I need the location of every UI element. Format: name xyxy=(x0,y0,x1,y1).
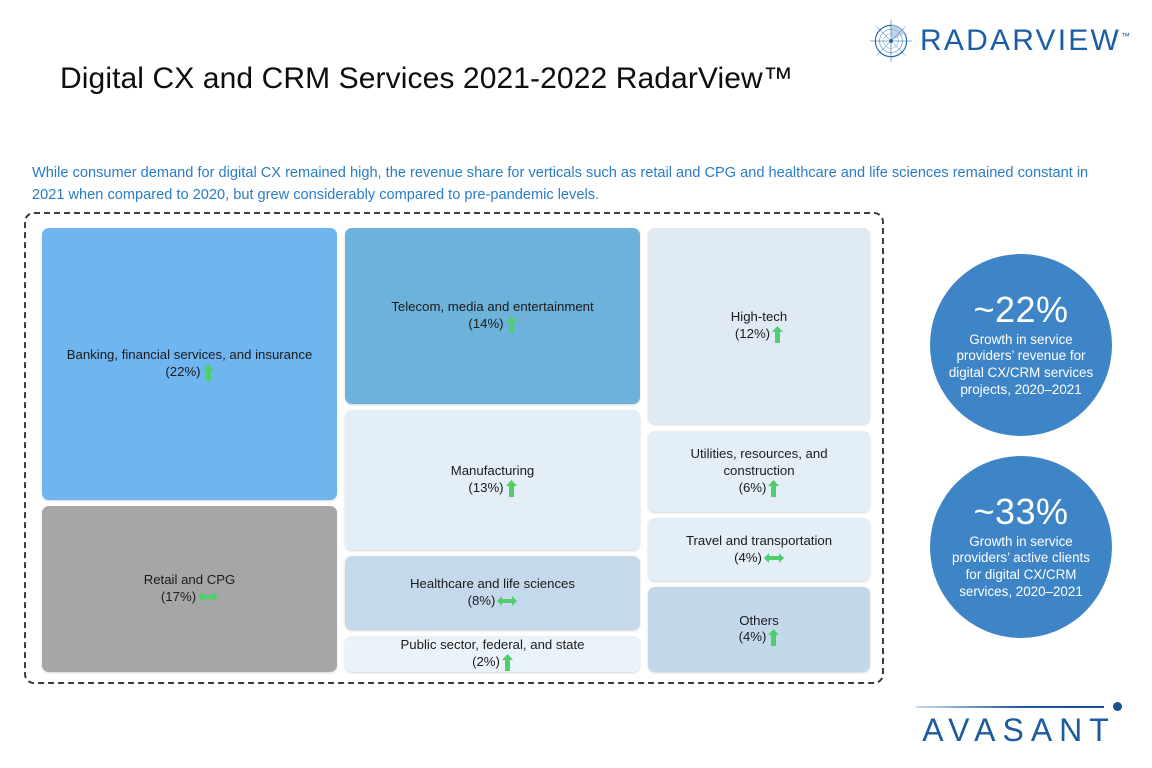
tile-label: High-tech xyxy=(731,309,787,326)
tile-percent-text: (2%) xyxy=(472,654,500,671)
radarview-trademark: ™ xyxy=(1121,31,1130,41)
tile-percent: (6%) xyxy=(739,480,780,497)
arrow-left-right-icon xyxy=(764,552,784,564)
treemap-tile-travel-transportation[interactable]: Travel and transportation (4%) xyxy=(648,518,870,581)
tile-content: Telecom, media and entertainment (14%) xyxy=(383,299,601,333)
tile-label: Travel and transportation xyxy=(686,533,832,550)
tile-percent-text: (12%) xyxy=(735,326,770,343)
tile-label: Manufacturing xyxy=(451,463,535,480)
tile-percent: (8%) xyxy=(468,593,518,610)
avasant-logo-rule xyxy=(916,706,1104,708)
tile-percent: (13%) xyxy=(468,480,516,497)
tile-label: Healthcare and life sciences xyxy=(410,576,575,593)
tile-percent-text: (8%) xyxy=(468,593,496,610)
stat-description: Growth in service providers’ revenue for… xyxy=(930,332,1112,398)
tile-percent: (4%) xyxy=(734,550,784,567)
treemap-tile-utilities-resources-construction[interactable]: Utilities, resources, and construction (… xyxy=(648,431,870,512)
tile-percent: (4%) xyxy=(739,629,780,646)
radarview-wordmark-text: RADARVIEW xyxy=(920,24,1121,57)
radarview-wordmark: RADARVIEW™ xyxy=(920,26,1130,56)
tile-content: Banking, financial services, and insuran… xyxy=(59,347,321,381)
tile-percent-text: (22%) xyxy=(165,364,200,381)
stat-value: ~22% xyxy=(973,292,1068,328)
tile-percent: (2%) xyxy=(472,654,513,671)
tile-content: Travel and transportation (4%) xyxy=(678,533,840,567)
arrow-up-icon xyxy=(506,316,517,333)
treemap-dashed-frame: Banking, financial services, and insuran… xyxy=(24,212,884,684)
radarview-logo: RADARVIEW™ xyxy=(868,18,1130,64)
arrow-up-icon xyxy=(768,629,779,646)
tile-percent: (17%) xyxy=(161,589,218,606)
tile-content: Healthcare and life sciences (8%) xyxy=(402,576,583,610)
arrow-up-icon xyxy=(502,654,513,671)
tile-content: Manufacturing (13%) xyxy=(443,463,543,497)
treemap-tile-high-tech[interactable]: High-tech (12%) xyxy=(648,228,870,424)
tile-percent-text: (4%) xyxy=(734,550,762,567)
treemap-tile-healthcare-life-sciences[interactable]: Healthcare and life sciences (8%) xyxy=(345,556,640,630)
tile-label: Banking, financial services, and insuran… xyxy=(67,347,313,364)
tile-content: High-tech (12%) xyxy=(723,309,795,343)
arrow-left-right-icon xyxy=(497,595,517,607)
tile-content: Retail and CPG (17%) xyxy=(136,572,244,606)
stat-description: Growth in service providers’ active clie… xyxy=(930,534,1112,600)
tile-label: Telecom, media and entertainment xyxy=(391,299,593,316)
tile-content: Public sector, federal, and state (2%) xyxy=(393,637,593,671)
treemap-tile-bfsi[interactable]: Banking, financial services, and insuran… xyxy=(42,228,337,500)
stat-circle-revenue-growth: ~22% Growth in service providers’ revenu… xyxy=(930,254,1112,436)
arrow-up-icon xyxy=(506,480,517,497)
tile-percent-text: (13%) xyxy=(468,480,503,497)
treemap-tile-retail-cpg[interactable]: Retail and CPG (17%) xyxy=(42,506,337,672)
tile-percent-text: (14%) xyxy=(468,316,503,333)
arrow-left-right-icon xyxy=(198,591,218,603)
stat-value: ~33% xyxy=(973,494,1068,530)
tile-label: Utilities, resources, and construction xyxy=(656,446,862,480)
tile-label: Others xyxy=(739,613,780,630)
treemap-tile-others[interactable]: Others (4%) xyxy=(648,587,870,672)
stat-circle-active-clients-growth: ~33% Growth in service providers’ active… xyxy=(930,456,1112,638)
tile-content: Others (4%) xyxy=(731,613,788,647)
tile-percent-text: (6%) xyxy=(739,480,767,497)
arrow-up-icon xyxy=(768,480,779,497)
treemap-tile-public-sector[interactable]: Public sector, federal, and state (2%) xyxy=(345,636,640,672)
avasant-wordmark: AVASANT xyxy=(910,714,1128,746)
treemap-tile-manufacturing[interactable]: Manufacturing (13%) xyxy=(345,410,640,550)
avasant-logo-dot xyxy=(1113,702,1122,711)
avasant-logo: AVASANT xyxy=(910,696,1128,750)
tile-content: Utilities, resources, and construction (… xyxy=(648,446,870,497)
radar-target-icon xyxy=(868,18,914,64)
tile-percent: (22%) xyxy=(165,364,213,381)
treemap-chart: Banking, financial services, and insuran… xyxy=(26,214,882,682)
page-title: Digital CX and CRM Services 2021-2022 Ra… xyxy=(60,62,793,96)
tile-percent: (14%) xyxy=(468,316,516,333)
tile-percent-text: (17%) xyxy=(161,589,196,606)
subtitle-text: While consumer demand for digital CX rem… xyxy=(32,163,1107,206)
treemap-tile-telecom-media-entertainment[interactable]: Telecom, media and entertainment (14%) xyxy=(345,228,640,404)
tile-percent-text: (4%) xyxy=(739,629,767,646)
tile-label: Retail and CPG xyxy=(144,572,236,589)
tile-percent: (12%) xyxy=(735,326,783,343)
arrow-up-icon xyxy=(772,326,783,343)
tile-label: Public sector, federal, and state xyxy=(401,637,585,654)
arrow-up-icon xyxy=(203,364,214,381)
